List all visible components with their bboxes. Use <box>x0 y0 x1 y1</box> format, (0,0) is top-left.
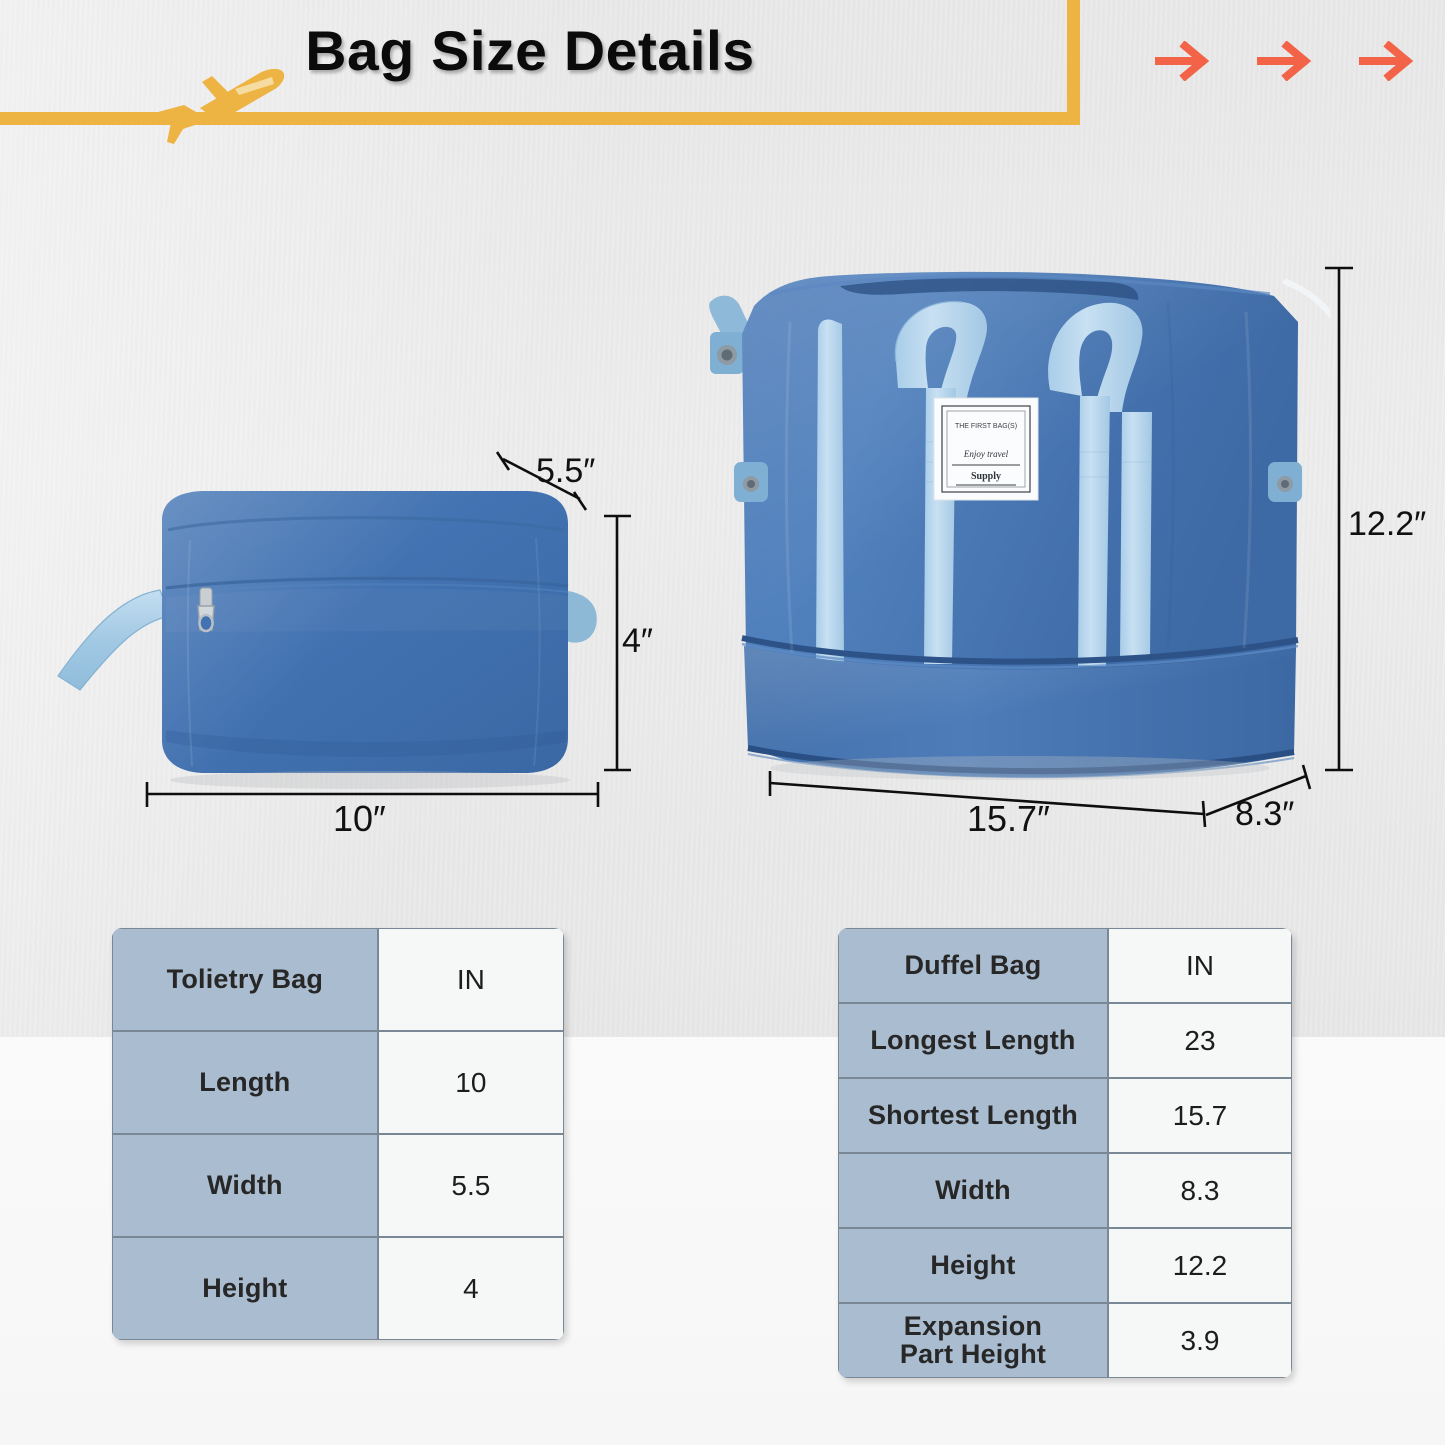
row-value-width: 5.5 <box>378 1134 564 1237</box>
right-arrow-icon <box>1359 41 1415 81</box>
row-value-height: 12.2 <box>1108 1228 1292 1303</box>
table-header-unit: IN <box>378 928 564 1031</box>
toiletry-bag-spec-table: Tolietry Bag IN Length 10 Width 5.5 Heig… <box>112 928 564 1340</box>
table-row: Shortest Length 15.7 <box>838 1078 1292 1153</box>
label-line-3: Supply <box>971 471 1001 482</box>
row-value-height: 4 <box>378 1237 564 1340</box>
row-label-height: Height <box>112 1237 378 1340</box>
table-header-label: Tolietry Bag <box>112 928 378 1031</box>
table-row: Height 12.2 <box>838 1228 1292 1303</box>
dim-label-duffel-width: 8.3″ <box>1235 795 1294 834</box>
row-label-longest-length: Longest Length <box>838 1003 1108 1078</box>
table-row: Tolietry Bag IN <box>112 928 564 1031</box>
table-row: Width 5.5 <box>112 1134 564 1237</box>
side-snap-loop-left <box>734 462 768 502</box>
row-value-longest-length: 23 <box>1108 1003 1292 1078</box>
row-value-expansion-part-height: 3.9 <box>1108 1303 1292 1378</box>
side-snap-loop-right <box>1268 462 1302 502</box>
row-label-height: Height <box>838 1228 1108 1303</box>
row-value-length: 10 <box>378 1031 564 1134</box>
table-row: Width 8.3 <box>838 1153 1292 1228</box>
dim-label-toiletry-length: 10″ <box>333 798 386 840</box>
label-line-1: THE FIRST BAG(S) <box>955 423 1017 430</box>
infographic-canvas: Bag Size Details <box>0 0 1445 1445</box>
row-value-width: 8.3 <box>1108 1153 1292 1228</box>
table-row: Longest Length 23 <box>838 1003 1292 1078</box>
table-row: Expansion Part Height 3.9 <box>838 1303 1292 1378</box>
brand-label-patch: THE FIRST BAG(S) Enjoy travel Supply <box>934 398 1038 500</box>
expansion-line-1: Expansion <box>904 1311 1042 1341</box>
dim-label-toiletry-width: 5.5″ <box>536 452 595 491</box>
duffel-bag-spec-table: Duffel Bag IN Longest Length 23 Shortest… <box>838 928 1292 1378</box>
expansion-line-2: Part Height <box>900 1339 1046 1369</box>
table-header-label: Duffel Bag <box>838 928 1108 1003</box>
dim-label-duffel-height: 12.2″ <box>1348 505 1426 544</box>
table-row: Height 4 <box>112 1237 564 1340</box>
dim-label-duffel-length: 15.7″ <box>967 798 1050 840</box>
right-arrow-icon <box>1155 41 1211 81</box>
wrist-strap <box>58 590 170 690</box>
row-label-length: Length <box>112 1031 378 1134</box>
row-value-shortest-length: 15.7 <box>1108 1078 1292 1153</box>
table-row: Length 10 <box>112 1031 564 1134</box>
row-label-expansion-part-height: Expansion Part Height <box>838 1303 1108 1378</box>
page-title: Bag Size Details <box>0 18 1071 83</box>
table-row: Duffel Bag IN <box>838 928 1292 1003</box>
dim-label-toiletry-height: 4″ <box>622 622 653 661</box>
row-label-width: Width <box>838 1153 1108 1228</box>
duffel-bag-photo: THE FIRST BAG(S) Enjoy travel Supply <box>690 262 1330 792</box>
label-line-2: Enjoy travel <box>963 449 1009 459</box>
table-header-unit: IN <box>1108 928 1292 1003</box>
row-label-shortest-length: Shortest Length <box>838 1078 1108 1153</box>
arrow-group <box>1155 38 1415 84</box>
right-arrow-icon <box>1257 41 1313 81</box>
zipper-pull <box>198 588 214 631</box>
toiletry-bag-photo <box>40 480 600 790</box>
row-label-width: Width <box>112 1134 378 1237</box>
